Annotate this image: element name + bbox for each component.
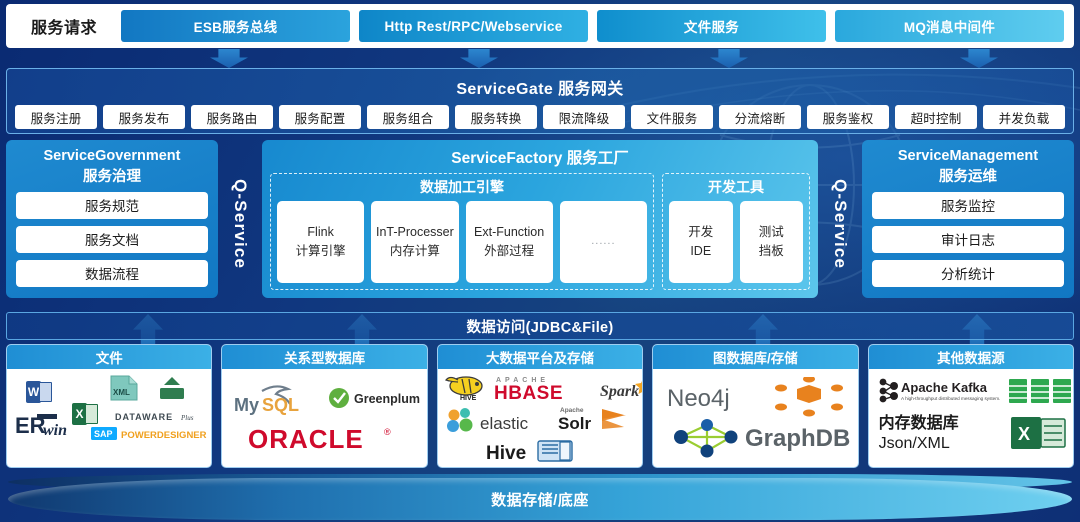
data-access-bar: 数据访问(JDBC&File) — [6, 312, 1074, 340]
source-card-files[interactable]: 文件 W X XML — [6, 344, 212, 468]
svg-text:SQL: SQL — [262, 395, 299, 415]
neo4j-logo: Neo4j — [667, 381, 763, 411]
service-factory-panel: ServiceFactory 服务工厂 数据加工引擎 Flink 计算引擎 In… — [262, 140, 818, 298]
governance-title-en: ServiceGovernment — [16, 148, 208, 165]
source-card-bigdata-body: HIVE APACHE HBASE Spark elastic — [438, 369, 642, 467]
hbase-logo: APACHE HBASE — [494, 373, 600, 401]
svg-text:Apache: Apache — [560, 407, 584, 414]
dev-card-mock-label: 挡板 — [759, 242, 784, 261]
architecture-diagram: 服务请求 ESB服务总线 Http Rest/RPC/Webservice 文件… — [0, 0, 1080, 522]
graphdb-text-logo: GraphDB — [745, 419, 858, 453]
dev-card-test-label: 测试 — [759, 223, 784, 242]
down-arrow-row — [0, 49, 1080, 69]
json-xml-label: Json/XML — [879, 435, 950, 453]
source-card-graph-body: Neo4j — [653, 369, 857, 467]
dev-tools-card-list: 开发 IDE 测试 挡板 — [669, 201, 803, 283]
hive-bee-label: HIVE — [460, 395, 477, 401]
neo4j-graph-icon — [669, 415, 747, 459]
management-item-audit[interactable]: 审计日志 — [872, 226, 1064, 253]
excel-sheet-icon: X — [1011, 413, 1067, 453]
middle-band: ServiceGovernment 服务治理 服务规范 服务文档 数据流程 Q-… — [6, 140, 1074, 308]
mysql-logo: My SQL — [234, 381, 326, 415]
document-file-icon — [157, 376, 187, 400]
dev-tools-group: 开发工具 开发 IDE 测试 挡板 — [662, 173, 810, 290]
svg-text:Plus: Plus — [180, 414, 194, 422]
word-doc-icon: W — [26, 381, 52, 403]
service-gate-title: ServiceGate 服务网关 — [7, 69, 1073, 99]
governance-item-dataflow[interactable]: 数据流程 — [16, 260, 208, 287]
service-factory-body: 数据加工引擎 Flink 计算引擎 InT-Processer 内存计算 Ext… — [270, 173, 810, 290]
svg-text:My: My — [234, 395, 259, 415]
svg-text:GraphDB: GraphDB — [745, 425, 850, 452]
service-gate-tag-list: 服务注册 服务发布 服务路由 服务配置 服务组合 服务转换 限流降级 文件服务 … — [7, 99, 1073, 129]
source-card-bigdata[interactable]: 大数据平台及存储 HIVE APACHE HBASE Spark — [437, 344, 643, 468]
engine-card-ext-function[interactable]: Ext-Function 外部过程 — [466, 201, 553, 283]
svg-text:HBASE: HBASE — [494, 383, 563, 401]
dev-tools-card-mock[interactable]: 测试 挡板 — [740, 201, 804, 283]
svg-text:ORACLE: ORACLE — [248, 424, 364, 454]
platform-label: 数据存储/底座 — [491, 489, 589, 510]
channel-mq[interactable]: MQ消息中间件 — [835, 10, 1064, 42]
gate-tag-service-register[interactable]: 服务注册 — [15, 105, 97, 129]
gate-tag-file-service[interactable]: 文件服务 — [631, 105, 713, 129]
sap-powerdesigner-logo: SAP POWERDESIGNER — [91, 425, 211, 443]
apache-kafka-logo: Apache Kafka A high-throughput distribut… — [877, 377, 1003, 403]
solr-logo: Apache Solr — [558, 403, 643, 433]
spark-logo: Spark — [600, 373, 643, 401]
green-table-icon — [1009, 379, 1073, 403]
service-governance-panel: ServiceGovernment 服务治理 服务规范 服务文档 数据流程 — [6, 140, 218, 298]
platform-base: 数据存储/底座 — [8, 478, 1072, 520]
governance-item-docs[interactable]: 服务文档 — [16, 226, 208, 253]
gate-tag-circuit-breaker[interactable]: 分流熔断 — [719, 105, 801, 129]
dev-tools-card-ide[interactable]: 开发 IDE — [669, 201, 733, 283]
management-title-cn: 服务运维 — [872, 165, 1064, 186]
erwin-logo: ER win — [15, 411, 101, 439]
hive-text-logo: Hive — [486, 437, 606, 465]
source-card-other-title: 其他数据源 — [869, 345, 1073, 369]
dev-card-ide-label: IDE — [690, 242, 711, 261]
excel-icon-letter: X — [1018, 424, 1030, 444]
gate-tag-concurrency[interactable]: 并发负载 — [983, 105, 1065, 129]
gate-tag-service-config[interactable]: 服务配置 — [279, 105, 361, 129]
gate-tag-rate-limit[interactable]: 限流降级 — [543, 105, 625, 129]
down-arrow-icon — [960, 49, 998, 68]
service-management-panel: ServiceManagement 服务运维 服务监控 审计日志 分析统计 — [862, 140, 1074, 298]
graphdb-node-icon — [757, 377, 849, 417]
q-service-left-text: Q-Service — [230, 179, 250, 269]
data-processing-engine-group: 数据加工引擎 Flink 计算引擎 InT-Processer 内存计算 Ext… — [270, 173, 654, 290]
svg-text:Greenplum: Greenplum — [354, 392, 420, 406]
svg-text:Neo4j: Neo4j — [667, 385, 730, 411]
management-title-en: ServiceManagement — [872, 148, 1064, 165]
source-card-graph-title: 图数据库/存储 — [653, 345, 857, 369]
gate-tag-service-publish[interactable]: 服务发布 — [103, 105, 185, 129]
source-card-other[interactable]: 其他数据源 Apache Kafka A high-throughput dis… — [868, 344, 1074, 468]
q-service-right-label: Q-Service — [818, 140, 862, 308]
source-card-relational-title: 关系型数据库 — [222, 345, 426, 369]
down-arrow-icon — [710, 49, 748, 68]
svg-text:SAP: SAP — [94, 429, 113, 439]
management-item-monitor[interactable]: 服务监控 — [872, 192, 1064, 219]
dev-card-dev-label: 开发 — [688, 223, 713, 242]
down-arrow-icon — [210, 49, 248, 68]
gate-tag-service-route[interactable]: 服务路由 — [191, 105, 273, 129]
service-request-label: 服务请求 — [16, 14, 112, 38]
svg-text:DATAWARE: DATAWARE — [115, 412, 173, 422]
dataware-logo: DATAWARE Plus — [115, 409, 207, 423]
channel-esb[interactable]: ESB服务总线 — [121, 10, 350, 42]
memory-database-label: 内存数据库 — [879, 409, 959, 433]
elastic-logo: elastic — [444, 405, 554, 433]
engine-card-ext-name: Ext-Function — [474, 223, 544, 242]
gate-tag-timeout[interactable]: 超时控制 — [895, 105, 977, 129]
engine-card-more-label: ...... — [591, 233, 615, 250]
source-card-files-title: 文件 — [7, 345, 211, 369]
svg-text:Spark: Spark — [600, 383, 639, 400]
governance-item-spec[interactable]: 服务规范 — [16, 192, 208, 219]
q-service-right-text: Q-Service — [830, 179, 850, 269]
engine-card-more[interactable]: ...... — [560, 201, 647, 283]
gate-tag-auth[interactable]: 服务鉴权 — [807, 105, 889, 129]
source-card-files-body: W X XML — [7, 369, 211, 467]
governance-title-cn: 服务治理 — [16, 165, 208, 186]
svg-text:Solr: Solr — [558, 414, 591, 433]
engine-card-list: Flink 计算引擎 InT-Processer 内存计算 Ext-Functi… — [277, 201, 647, 283]
source-card-relational-db[interactable]: 关系型数据库 My SQL Greenplum ORACLE ® — [221, 344, 427, 468]
svg-text:XML: XML — [113, 388, 130, 397]
engine-card-flink-desc: 计算引擎 — [296, 242, 346, 261]
source-card-bigdata-title: 大数据平台及存储 — [438, 345, 642, 369]
service-request-bar: 服务请求 ESB服务总线 Http Rest/RPC/Webservice 文件… — [6, 4, 1074, 48]
engine-title: 数据加工引擎 — [277, 177, 647, 197]
channel-file-service[interactable]: 文件服务 — [597, 10, 826, 42]
source-card-relational-body: My SQL Greenplum ORACLE ® — [222, 369, 426, 467]
source-card-graph-db[interactable]: 图数据库/存储 Neo4j — [652, 344, 858, 468]
service-gate-panel: ServiceGate 服务网关 服务注册 服务发布 服务路由 服务配置 服务组… — [6, 68, 1074, 134]
svg-text:Apache Kafka: Apache Kafka — [901, 380, 988, 395]
engine-card-int-name: InT-Processer — [376, 223, 454, 242]
xml-file-icon: XML — [109, 375, 139, 401]
hive-bee-icon: HIVE — [444, 373, 490, 401]
service-factory-title: ServiceFactory 服务工厂 — [270, 146, 810, 168]
data-source-card-row: 文件 W X XML — [6, 344, 1074, 468]
svg-text:A high-throughput distributed: A high-throughput distributed messaging … — [901, 396, 1000, 401]
oracle-logo: ORACLE ® — [248, 423, 412, 455]
svg-text:elastic: elastic — [480, 414, 529, 433]
engine-card-int-desc: 内存计算 — [390, 242, 440, 261]
engine-card-ext-desc: 外部过程 — [484, 242, 534, 261]
dev-tools-title: 开发工具 — [669, 177, 803, 197]
svg-text:Hive: Hive — [486, 443, 526, 464]
engine-card-flink[interactable]: Flink 计算引擎 — [277, 201, 364, 283]
svg-text:®: ® — [384, 427, 391, 437]
engine-card-int-processer[interactable]: InT-Processer 内存计算 — [371, 201, 458, 283]
source-card-other-body: Apache Kafka A high-throughput distribut… — [869, 369, 1073, 467]
down-arrow-icon — [460, 49, 498, 68]
gate-tag-service-transform[interactable]: 服务转换 — [455, 105, 537, 129]
engine-card-flink-name: Flink — [307, 223, 333, 242]
gate-tag-service-compose[interactable]: 服务组合 — [367, 105, 449, 129]
channel-http-rest[interactable]: Http Rest/RPC/Webservice — [359, 10, 588, 42]
management-item-analysis[interactable]: 分析统计 — [872, 260, 1064, 287]
svg-text:win: win — [43, 422, 67, 439]
svg-text:POWERDESIGNER: POWERDESIGNER — [121, 430, 207, 441]
q-service-left-label: Q-Service — [218, 140, 262, 308]
greenplum-logo: Greenplum — [328, 385, 427, 411]
